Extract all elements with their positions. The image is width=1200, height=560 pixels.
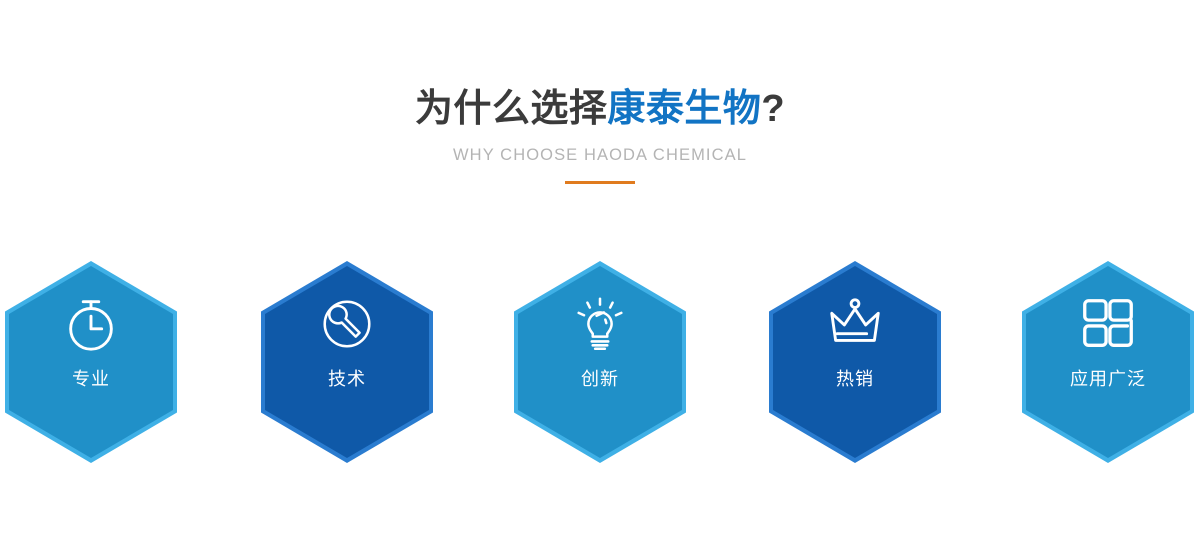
grid-squares-icon [1077, 293, 1139, 355]
feature-hexagon-row: 专业 技术 [0, 261, 1200, 471]
feature-label: 创新 [581, 369, 619, 391]
section-heading: 为什么选择康泰生物? WHY CHOOSE HAODA CHEMICAL [0, 0, 1200, 184]
feature-label: 热销 [836, 369, 874, 391]
wrench-circle-icon [316, 293, 378, 355]
feature-hexagon-jishu[interactable]: 技术 [261, 261, 433, 463]
page-subtitle: WHY CHOOSE HAODA CHEMICAL [0, 146, 1200, 166]
hexagon-content: 技术 [261, 261, 433, 463]
feature-hexagon-zhuanye[interactable]: 专业 [5, 261, 177, 463]
hexagon-content: 热销 [769, 261, 941, 463]
title-underline-rule [565, 181, 635, 184]
hexagon-content: 应用广泛 [1022, 261, 1194, 463]
feature-hexagon-chuangxin[interactable]: 创新 [514, 261, 686, 463]
page-title-suffix: ? [761, 88, 785, 130]
feature-hexagon-yingyongguangfan[interactable]: 应用广泛 [1022, 261, 1194, 463]
lightbulb-icon [569, 293, 631, 355]
hexagon-content: 创新 [514, 261, 686, 463]
feature-label: 应用广泛 [1070, 369, 1146, 391]
page-title-accent: 康泰生物 [607, 88, 761, 130]
feature-label: 专业 [72, 369, 110, 391]
feature-label: 技术 [328, 369, 366, 391]
page-title-prefix: 为什么选择 [415, 88, 608, 130]
crown-icon [824, 293, 886, 355]
hexagon-content: 专业 [5, 261, 177, 463]
stopwatch-icon [60, 293, 122, 355]
page-title: 为什么选择康泰生物? [0, 86, 1200, 134]
feature-hexagon-rexiao[interactable]: 热销 [769, 261, 941, 463]
